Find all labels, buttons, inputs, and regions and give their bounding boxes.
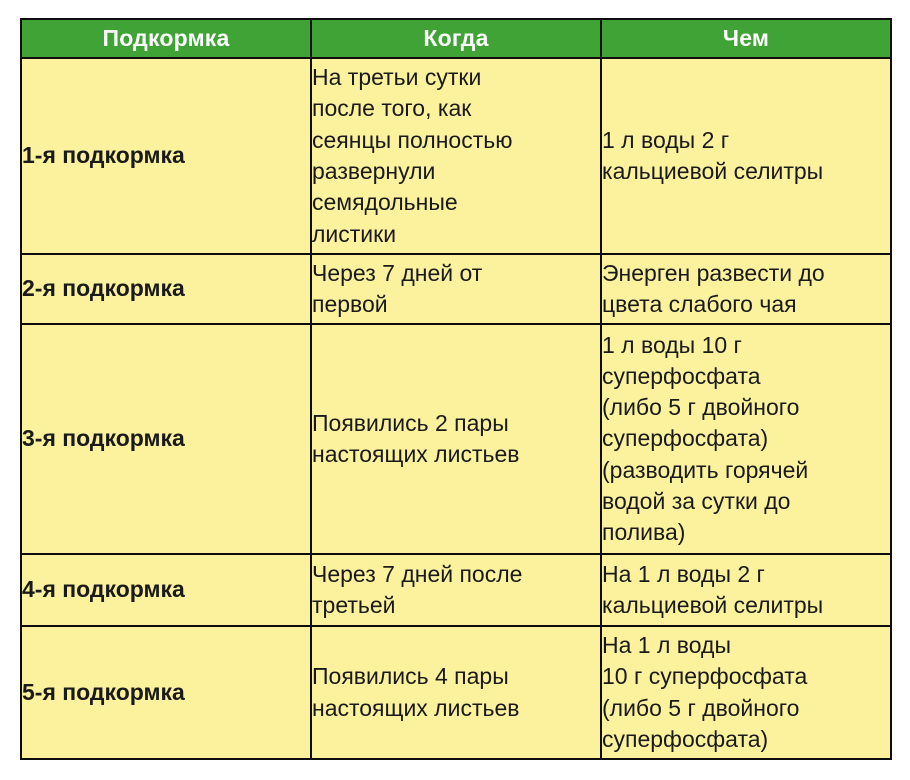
cell-stage: 2-я подкормка: [21, 254, 311, 324]
table-row: 5-я подкормка Появились 4 пары настоящих…: [21, 626, 891, 759]
table-row: 4-я подкормка Через 7 дней после третьей…: [21, 554, 891, 626]
table-row: 3-я подкормка Появились 2 пары настоящих…: [21, 324, 891, 554]
column-header-stage: Подкормка: [21, 19, 311, 58]
cell-what: На 1 л воды 10 г суперфосфата (либо 5 г …: [601, 626, 891, 759]
cell-when: Через 7 дней от первой: [311, 254, 601, 324]
cell-stage: 3-я подкормка: [21, 324, 311, 554]
cell-when: Появились 2 пары настоящих листьев: [311, 324, 601, 554]
cell-when: Через 7 дней после третьей: [311, 554, 601, 626]
table-header: Подкормка Когда Чем: [21, 19, 891, 58]
cell-stage: 4-я подкормка: [21, 554, 311, 626]
column-header-when: Когда: [311, 19, 601, 58]
feeding-schedule-table: Подкормка Когда Чем 1-я подкормка На тре…: [20, 18, 892, 760]
table-header-row: Подкормка Когда Чем: [21, 19, 891, 58]
cell-what: 1 л воды 2 г кальциевой селитры: [601, 58, 891, 254]
column-header-what: Чем: [601, 19, 891, 58]
cell-what: Энерген развести до цвета слабого чая: [601, 254, 891, 324]
cell-what: 1 л воды 10 г суперфосфата (либо 5 г дво…: [601, 324, 891, 554]
cell-when: Появились 4 пары настоящих листьев: [311, 626, 601, 759]
cell-stage: 5-я подкормка: [21, 626, 311, 759]
feeding-schedule-table-wrapper: Подкормка Когда Чем 1-я подкормка На тре…: [20, 18, 890, 760]
cell-what: На 1 л воды 2 г кальциевой селитры: [601, 554, 891, 626]
table-body: 1-я подкормка На третьи сутки после того…: [21, 58, 891, 759]
table-row: 1-я подкормка На третьи сутки после того…: [21, 58, 891, 254]
cell-when: На третьи сутки после того, как сеянцы п…: [311, 58, 601, 254]
table-row: 2-я подкормка Через 7 дней от первой Эне…: [21, 254, 891, 324]
cell-stage: 1-я подкормка: [21, 58, 311, 254]
